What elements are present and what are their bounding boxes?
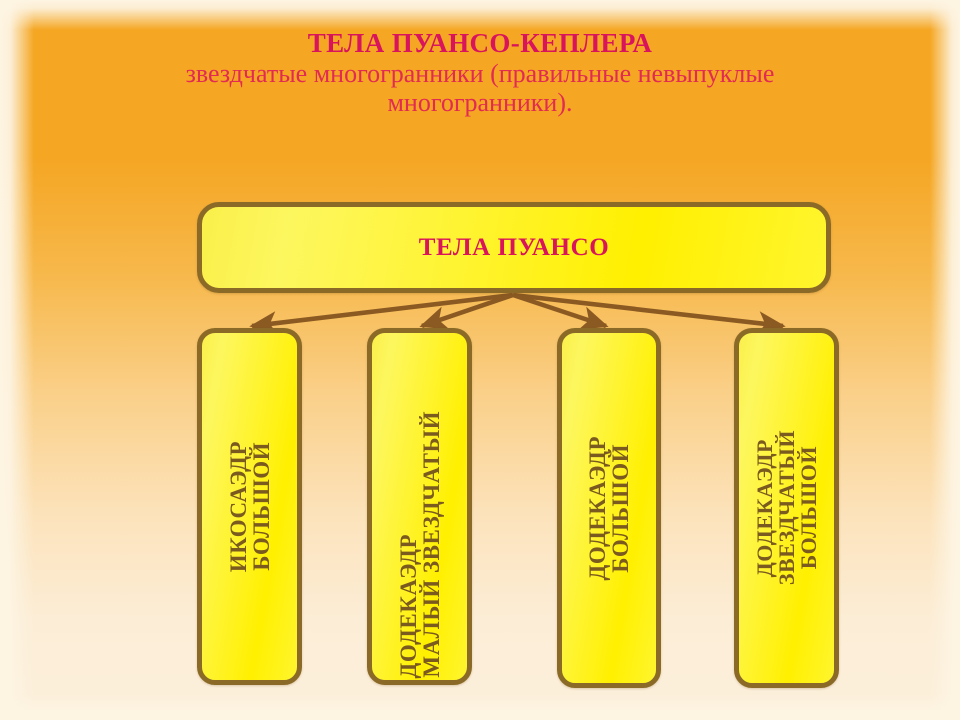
leaf-node-label-line: МАЛЫЙ ЗВЕЗДЧАТЫЙ <box>420 411 443 678</box>
leaf-node-box-great-dodecahedron[interactable]: БОЛЬШОЙ ДОДЕКАЭДР <box>557 328 661 688</box>
leaf-node-label-line: ДОДЕКАЭДР <box>754 439 776 577</box>
leaf-node-box-big-icosahedron[interactable]: БОЛЬШОЙ ИКОСАЭДР <box>197 328 302 685</box>
page-title: ТЕЛА ПУАНСО-КЕПЛЕРА звездчатые многогран… <box>0 28 960 117</box>
title-subtitle-line-1: звездчатые многогранники (правильные нев… <box>0 59 960 88</box>
leaf-node-label-line: ИКОСАЭДР <box>227 441 250 572</box>
leaf-node-box-small-stellated-dodecahedron[interactable]: МАЛЫЙ ЗВЕЗДЧАТЫЙ ДОДЕКАЭДР <box>367 328 472 685</box>
leaf-node-label-line: ДОДЕКАЭДР <box>586 436 609 581</box>
leaf-node-label-line: ДОДЕКАЭДР <box>397 534 420 679</box>
leaf-node-label-line: БОЛЬШОЙ <box>250 442 273 571</box>
slide-canvas: ТЕЛА ПУАНСО-КЕПЛЕРА звездчатые многогран… <box>0 0 960 720</box>
leaf-node-label-stack: БОЛЬШОЙ ДОДЕКАЭДР <box>562 333 656 683</box>
leaf-node-label-stack: БОЛЬШОЙ ИКОСАЭДР <box>202 333 297 680</box>
leaf-node-label-line: БОЛЬШОЙ <box>609 444 632 573</box>
center-node-box[interactable]: ТЕЛА ПУАНСО <box>197 202 831 293</box>
center-node-label: ТЕЛА ПУАНСО <box>419 234 610 262</box>
title-subtitle-line-2: многогранники). <box>0 88 960 117</box>
title-main-line: ТЕЛА ПУАНСО-КЕПЛЕРА <box>0 28 960 59</box>
leaf-node-label-stack: БОЛЬШОЙ ЗВЕЗДЧАТЫЙ ДОДЕКАЭДР <box>739 333 834 683</box>
leaf-node-label-stack: МАЛЫЙ ЗВЕЗДЧАТЫЙ ДОДЕКАЭДР <box>372 333 467 680</box>
leaf-node-label-line: ЗВЕЗДЧАТЫЙ <box>776 430 798 585</box>
leaf-node-label-line: БОЛЬШОЙ <box>798 446 820 569</box>
leaf-node-box-great-stellated-dodecahedron[interactable]: БОЛЬШОЙ ЗВЕЗДЧАТЫЙ ДОДЕКАЭДР <box>734 328 839 688</box>
